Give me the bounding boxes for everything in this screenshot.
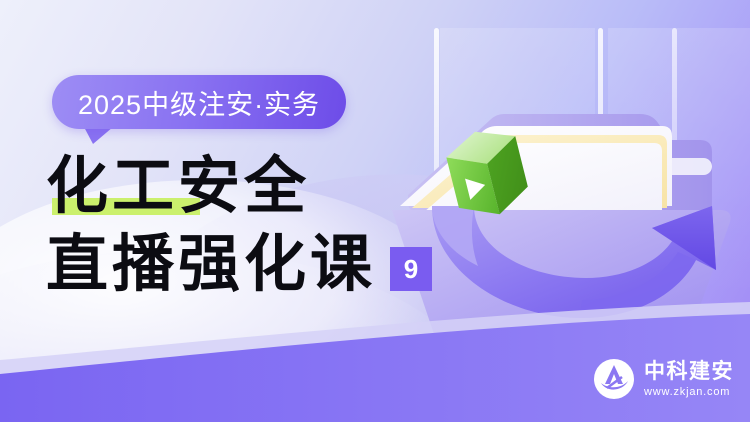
headline-block: 化工安全 直播强化课 9 — [46, 148, 466, 304]
headline-line-2: 直播强化课 — [46, 226, 376, 302]
tag-bubble-pointer — [84, 127, 113, 144]
course-category-tag: 2025中级注安·实务 — [52, 75, 346, 129]
headline-line-2-wrap: 直播强化课 9 — [46, 224, 466, 304]
headline-line-1-wrap: 化工安全 — [46, 148, 466, 224]
headline-line-1: 化工安全 — [46, 149, 310, 222]
brand-name: 中科建安 — [644, 361, 734, 382]
brand-url: www.zkjan.com — [644, 387, 734, 398]
course-promo-banner: 2025中级注安·实务 化工安全 直播强化课 9 中科建安 www.zkjan.… — [0, 0, 750, 422]
episode-badge: 9 — [390, 247, 432, 291]
course-category-label: 2025中级注安·实务 — [78, 83, 320, 122]
brand-logo-text: 中科建安 www.zkjan.com — [644, 361, 734, 398]
brand-logo: 中科建安 www.zkjan.com — [593, 358, 734, 400]
zkjan-monogram-icon — [593, 358, 635, 400]
